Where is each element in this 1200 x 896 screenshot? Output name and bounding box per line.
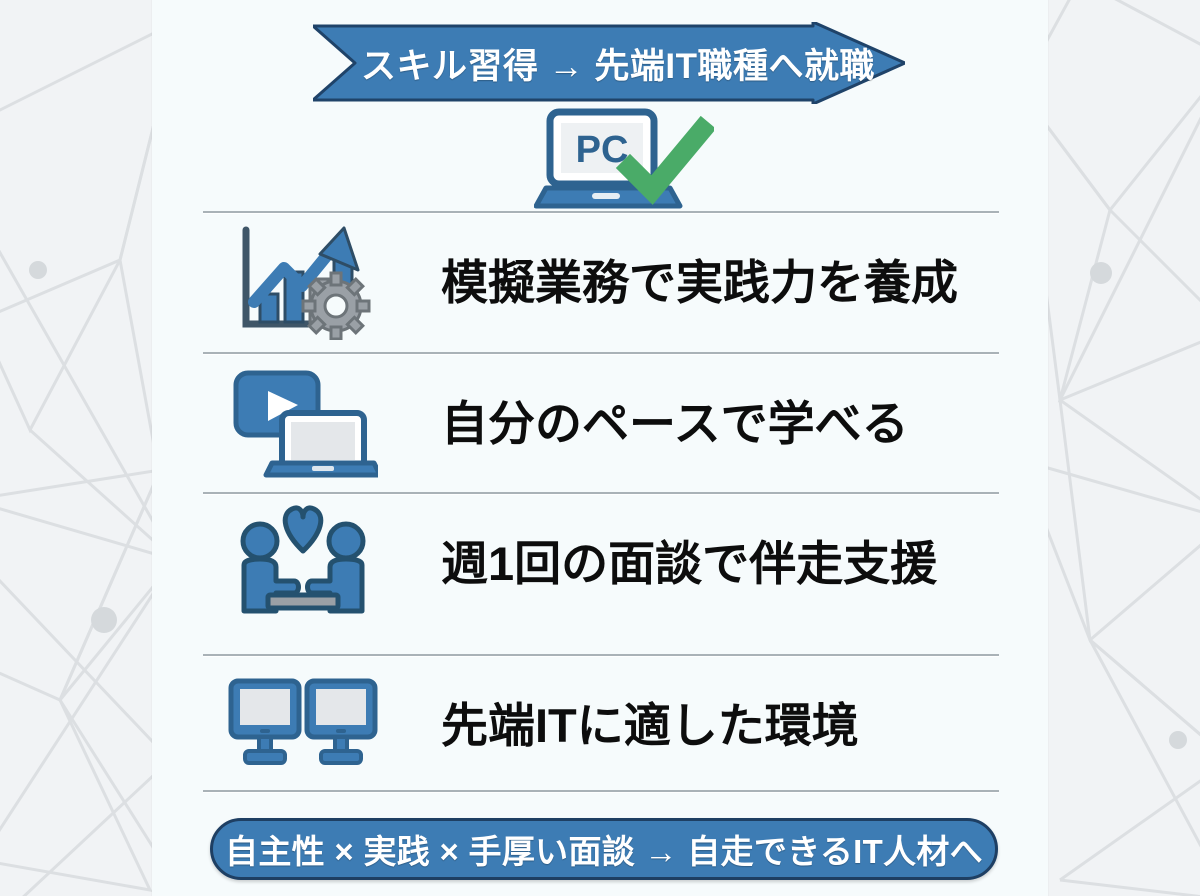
feature-row-2: 自分のペースで学べる bbox=[203, 354, 1003, 492]
footer-summary-pill: 自主性 × 実践 × 手厚い面談 → 自走できるIT人材へ bbox=[210, 818, 998, 880]
feature-row-1: 模擬業務で実践力を養成 bbox=[203, 213, 1003, 351]
feature-row-3: 週1回の面談で伴走支援 bbox=[203, 494, 1003, 632]
content-card: スキル習得 → 先端IT職種へ就職 PC bbox=[152, 0, 1048, 896]
video-laptop-icon bbox=[203, 363, 403, 483]
headline-arrow-label: スキル習得 → 先端IT職種へ就職 bbox=[313, 22, 905, 104]
dual-monitor-icon bbox=[203, 665, 403, 785]
feature-row-4: 先端ITに適した環境 bbox=[203, 656, 1003, 794]
mesh-node bbox=[1090, 262, 1112, 284]
infographic-stage: スキル習得 → 先端IT職種へ就職 PC bbox=[0, 0, 1200, 896]
mesh-node bbox=[1169, 731, 1187, 749]
two-people-heart-meeting-icon bbox=[203, 503, 403, 623]
mesh-node bbox=[91, 607, 117, 633]
headline-arrow-banner: スキル習得 → 先端IT職種へ就職 bbox=[313, 22, 905, 104]
feature-label-2: 自分のペースで学べる bbox=[441, 400, 909, 447]
footer-summary-label: 自主性 × 実践 × 手厚い面談 → 自走できるIT人材へ bbox=[225, 825, 983, 873]
feature-label-3: 週1回の面談で伴走支援 bbox=[441, 540, 937, 587]
feature-label-1: 模擬業務で実践力を養成 bbox=[441, 259, 958, 306]
mesh-node bbox=[29, 261, 47, 279]
growth-chart-gear-icon bbox=[203, 222, 403, 342]
feature-label-4: 先端ITに適した環境 bbox=[441, 702, 859, 749]
laptop-pc-check-icon: PC bbox=[534, 108, 714, 212]
